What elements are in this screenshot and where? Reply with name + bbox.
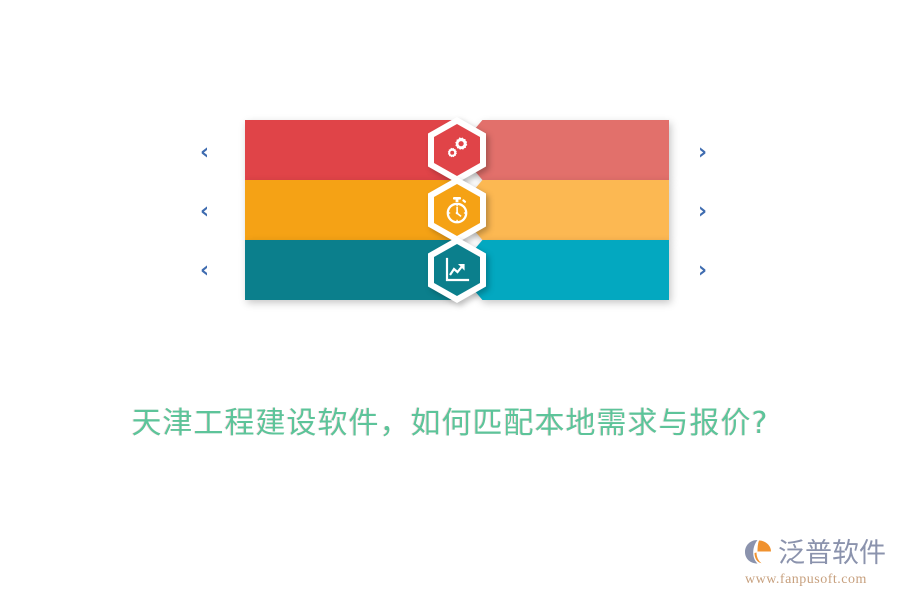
chevron-right-icon-row1[interactable]: › (698, 142, 707, 164)
band-right-half (457, 240, 669, 300)
logo-website-url: www.fanpusoft.com (745, 572, 867, 588)
band-left-half (245, 120, 457, 180)
band-right-half (457, 120, 669, 180)
brand-logo: 泛普软件 www.fanpusoft.com (743, 536, 886, 588)
band-left-half (245, 240, 457, 300)
infographic-graphic (245, 120, 669, 300)
fanpu-swoosh-logo-icon (743, 536, 775, 571)
hex-badge-process (428, 117, 486, 183)
chevron-left-icon-row3[interactable]: ‹ (200, 260, 209, 282)
chevron-right-icon-row2[interactable]: › (698, 201, 707, 223)
chevron-right-icon-row3[interactable]: › (698, 260, 707, 282)
band-right-half (457, 180, 669, 240)
chevron-left-icon-row2[interactable]: ‹ (200, 201, 209, 223)
logo-company-name: 泛普软件 (778, 540, 886, 567)
logo-row: 泛普软件 (743, 536, 886, 571)
band-left-half (245, 180, 457, 240)
page-headline: 天津工程建设软件，如何匹配本地需求与报价? (0, 398, 900, 442)
chevron-left-icon-row1[interactable]: ‹ (200, 142, 209, 164)
hex-badge-time (428, 177, 486, 243)
hex-badge-growth (428, 237, 486, 303)
